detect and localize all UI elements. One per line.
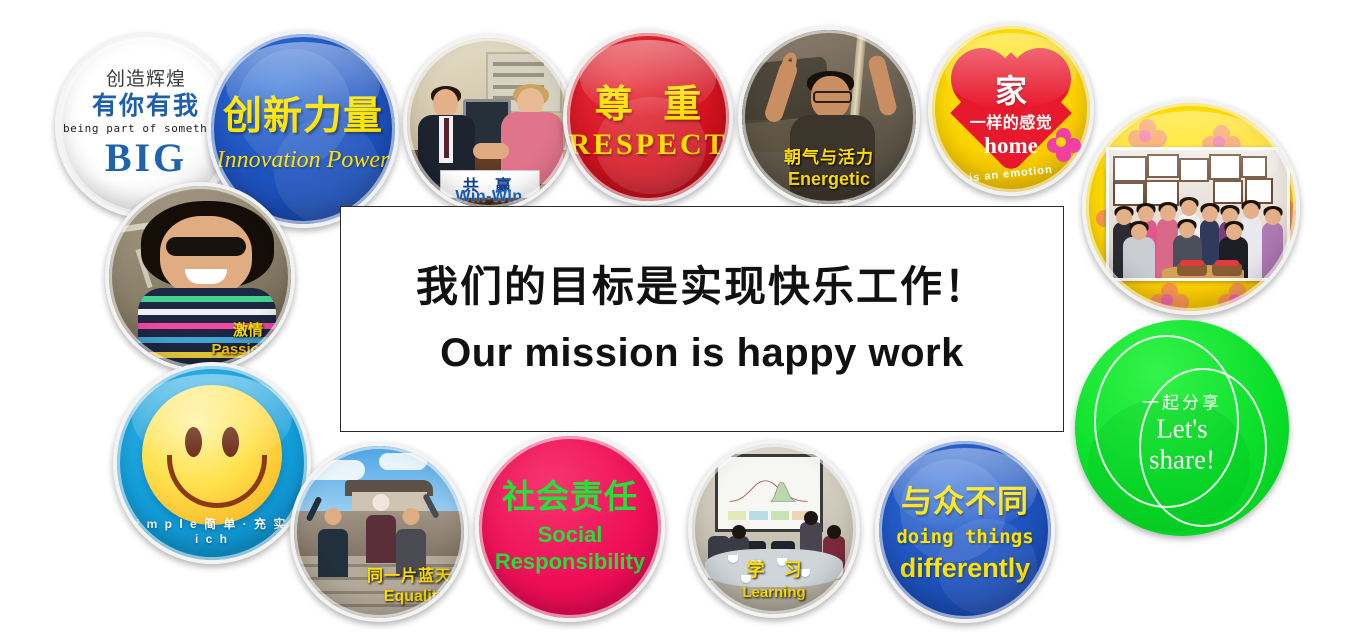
bubble-lets-share[interactable]: 一起分享 Let's share!: [1075, 320, 1289, 536]
learning-chinese: 学 习: [692, 556, 856, 582]
big-line3: being part of something: [63, 122, 229, 135]
big-line4: BIG: [105, 135, 187, 181]
mission-banner: 我们的目标是实现快乐工作！ Our mission is happy work: [340, 206, 1064, 432]
bubble-respect[interactable]: 尊 重 RESPECT: [563, 29, 733, 205]
equality-english: Equality: [384, 588, 446, 606]
smile-arc-text: S i m p l e 简 单 · 充 实 R i c h: [117, 515, 307, 546]
bubble-doing-things-differently[interactable]: 与众不同 doing things differently: [875, 437, 1055, 623]
bubble-family-team-photo[interactable]: [1082, 99, 1300, 315]
home-line1: 家: [995, 75, 1027, 107]
bubble-passion[interactable]: 激情 Passion: [105, 182, 295, 372]
bubble-social-responsibility[interactable]: 社会责任 Social Responsibility: [475, 432, 665, 622]
share-english-line1: Let's: [1075, 414, 1289, 445]
passion-english: Passion: [211, 341, 269, 358]
share-chinese: 一起分享: [1075, 389, 1289, 414]
big-line2: 有你有我: [92, 91, 200, 122]
flower-icon: [1047, 128, 1081, 162]
bubble-equality[interactable]: 同一片蓝天 Equality: [290, 442, 468, 622]
energetic-english: Energetic: [742, 169, 916, 190]
home-line3: home: [984, 133, 1038, 158]
learning-english: Learning: [692, 584, 856, 601]
differently-english-line1: doing things: [896, 526, 1033, 548]
equality-chinese: 同一片蓝天: [367, 562, 452, 586]
big-line1: 创造辉煌: [106, 70, 186, 91]
mission-chinese: 我们的目标是实现快乐工作！: [416, 262, 988, 312]
energetic-chinese: 朝气与活力: [742, 143, 916, 168]
bubble-home-is-an-emotion[interactable]: 家 一样的感觉 home is an emotion: [928, 22, 1094, 196]
flower-icon: [1218, 283, 1258, 315]
winwin-english: Win-Win: [407, 188, 571, 206]
bubble-win-win[interactable]: 共 赢 Win-Win: [403, 34, 575, 212]
group-photo: [1106, 147, 1290, 281]
innovation-chinese: 创新力量: [223, 85, 383, 141]
innovation-english: Innovation Power: [217, 147, 390, 174]
social-chinese: 社会责任: [502, 479, 638, 515]
respect-english: RESPECT: [568, 128, 727, 162]
differently-chinese: 与众不同: [901, 476, 1029, 521]
home-line2: 一样的感觉: [970, 109, 1053, 133]
respect-chinese: 尊 重: [585, 73, 712, 128]
passion-chinese: 激情: [233, 319, 263, 340]
social-english-line2: Responsibility: [495, 549, 645, 575]
bubble-simple-and-rich[interactable]: S i m p l e 简 单 · 充 实 R i c h: [113, 362, 311, 564]
mission-english: Our mission is happy work: [440, 331, 964, 376]
values-poster: 创造辉煌 有你有我 being part of something BIG 创新…: [0, 0, 1366, 635]
bubble-learning[interactable]: 学 习 Learning: [688, 440, 860, 618]
smiley-face-icon: [142, 385, 282, 525]
differently-english-line2: differently: [900, 553, 1031, 584]
flower-icon: [1150, 283, 1190, 315]
bubble-energetic[interactable]: 朝气与活力 Energetic: [738, 26, 920, 208]
share-english-line2: share!: [1075, 445, 1289, 476]
social-english-line1: Social: [538, 521, 603, 549]
